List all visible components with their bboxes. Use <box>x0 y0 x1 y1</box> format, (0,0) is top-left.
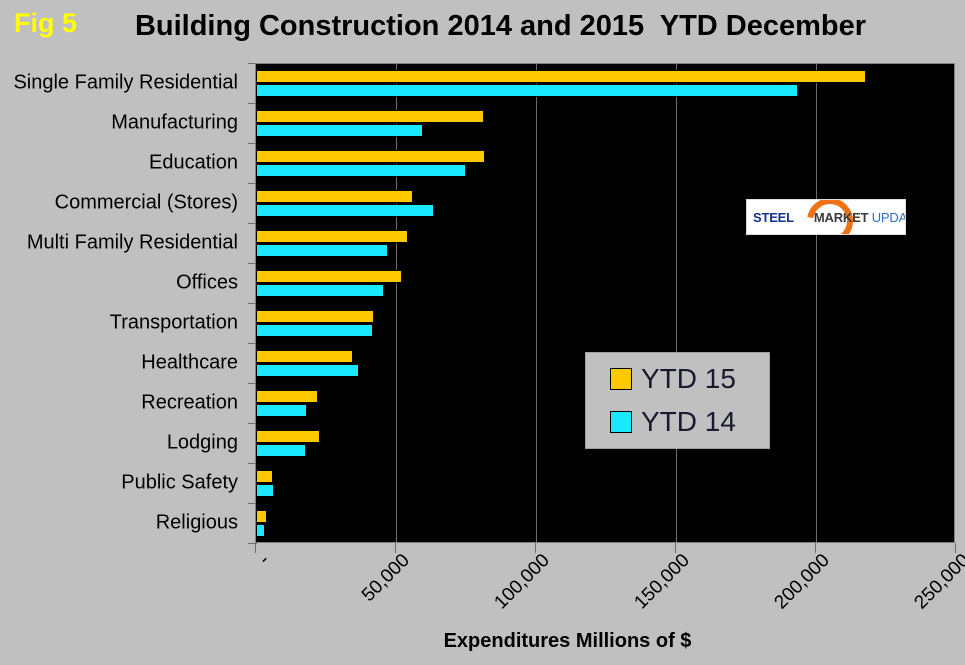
plot-wrapper <box>255 63 955 543</box>
logo-word-market: MARKET <box>794 210 868 225</box>
bar-series-ytd-14 <box>256 84 798 97</box>
y-axis-category-label: Education <box>149 152 238 175</box>
bar-row <box>256 64 954 104</box>
bar-row <box>256 464 954 504</box>
y-axis-category-label: Lodging <box>167 432 238 455</box>
bar-series-ytd-14 <box>256 284 384 297</box>
bar-series-ytd-14 <box>256 164 466 177</box>
x-axis-title: Expenditures Millions of $ <box>0 630 965 653</box>
bar-series-ytd-14 <box>256 244 388 257</box>
bar-series-ytd-15 <box>256 70 866 83</box>
bar-series-ytd-15 <box>256 510 267 523</box>
bar-series-ytd-15 <box>256 150 485 163</box>
legend-item-ytd-15: YTD 15 <box>610 363 769 395</box>
bar-series-ytd-14 <box>256 124 423 137</box>
y-axis-category-label: Single Family Residential <box>13 72 238 95</box>
bar-series-ytd-14 <box>256 444 306 457</box>
plot-area <box>255 63 955 543</box>
y-axis-category-label: Recreation <box>141 392 238 415</box>
legend-label-ytd-14: YTD 14 <box>641 406 736 438</box>
legend-item-ytd-14: YTD 14 <box>610 406 769 438</box>
y-axis-category-label: Offices <box>176 272 238 295</box>
bar-series-ytd-15 <box>256 270 402 283</box>
y-axis-category-label: Multi Family Residential <box>27 232 238 255</box>
bar-series-ytd-15 <box>256 470 273 483</box>
logo-word-update: UPDATE <box>872 210 906 225</box>
x-axis-tick-labels: -50,000100,000150,000200,000250,000 <box>0 550 965 620</box>
x-axis-tick-label: 250,000 <box>959 501 965 565</box>
bar-series-ytd-15 <box>256 430 320 443</box>
y-axis-category-label: Religious <box>156 512 238 535</box>
legend-swatch-icon-ytd-15 <box>610 368 632 390</box>
bar-row <box>256 144 954 184</box>
y-axis-category-label: Public Safety <box>121 472 238 495</box>
bar-series-ytd-15 <box>256 310 374 323</box>
chart-legend: YTD 15 YTD 14 <box>585 352 770 449</box>
bar-series-ytd-15 <box>256 230 408 243</box>
bar-series-ytd-14 <box>256 404 307 417</box>
logo-text: STEELMARKET UPDATE <box>747 210 906 225</box>
bar-series-ytd-14 <box>256 484 274 497</box>
y-axis-category-label: Commercial (Stores) <box>55 192 238 215</box>
bar-row <box>256 104 954 144</box>
legend-swatch-icon-ytd-14 <box>610 411 632 433</box>
y-axis-category-label: Manufacturing <box>111 112 238 135</box>
bar-rows <box>256 64 954 542</box>
page-title: Building Construction 2014 and 2015 YTD … <box>0 10 965 43</box>
steel-market-update-logo: STEELMARKET UPDATE <box>746 199 906 235</box>
bar-series-ytd-15 <box>256 110 484 123</box>
bar-series-ytd-15 <box>256 350 353 363</box>
bar-series-ytd-14 <box>256 364 359 377</box>
bar-series-ytd-14 <box>256 524 265 537</box>
bar-row <box>256 264 954 304</box>
bar-series-ytd-15 <box>256 190 413 203</box>
bar-row <box>256 304 954 344</box>
y-axis-category-label: Healthcare <box>141 352 238 375</box>
bar-series-ytd-14 <box>256 324 373 337</box>
bar-series-ytd-15 <box>256 390 318 403</box>
y-axis-category-labels: Single Family ResidentialManufacturingEd… <box>0 63 248 543</box>
logo-word-steel: STEEL <box>753 210 794 225</box>
y-axis-category-label: Transportation <box>110 312 238 335</box>
bar-series-ytd-14 <box>256 204 434 217</box>
legend-label-ytd-15: YTD 15 <box>641 363 736 395</box>
